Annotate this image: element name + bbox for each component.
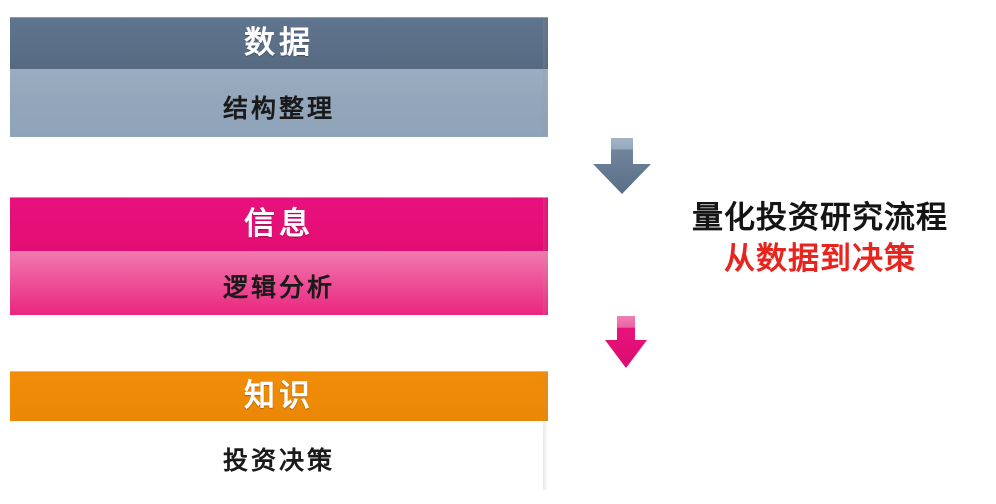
down-arrow-icon-information-to-knowledge — [603, 316, 649, 370]
flow-block-data-head: 数据 — [10, 17, 548, 69]
diagram-canvas: 数据 结构整理 信息 — [0, 0, 996, 504]
flow-block-data[interactable]: 数据 结构整理 — [10, 17, 548, 137]
flow-block-information-head: 信息 — [10, 197, 548, 251]
flow-block-knowledge-head: 知识 — [10, 371, 548, 421]
caption-title: 量化投资研究流程 — [655, 198, 985, 238]
caption-subtitle: 从数据到决策 — [655, 238, 985, 280]
flow-block-knowledge[interactable]: 知识 投资决策 — [10, 371, 548, 490]
caption: 量化投资研究流程 从数据到决策 — [655, 198, 985, 280]
flow-block-information[interactable]: 信息 逻辑分析 — [10, 197, 548, 315]
flow-block-data-body: 结构整理 — [10, 69, 548, 137]
flow-block-knowledge-body: 投资决策 — [10, 421, 548, 490]
flow-block-information-body: 逻辑分析 — [10, 251, 548, 315]
down-arrow-icon-data-to-information — [591, 138, 653, 196]
